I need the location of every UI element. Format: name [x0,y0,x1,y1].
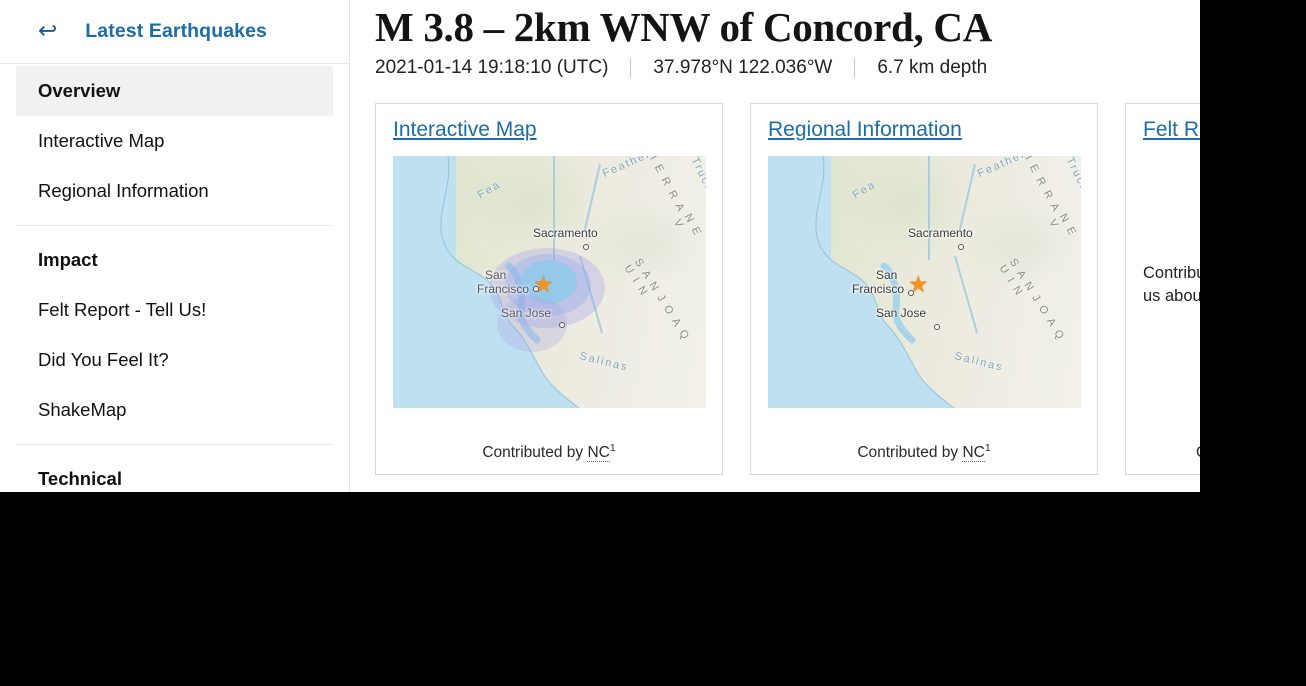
map-city-label: Sacramento [908,226,973,240]
map-city-label: San Jose [876,306,926,320]
event-coordinates: 37.978°N 122.036°W [653,57,832,79]
river-line [553,156,555,260]
map-city-label: Francisco [852,282,904,296]
sidebar: ↩ Latest Earthquakes Overview Interactiv… [0,0,350,492]
event-metadata: 2021-01-14 19:18:10 (UTC) 37.978°N 122.0… [375,57,1200,79]
city-dot [958,244,964,250]
sidebar-item-label: Did You Feel It? [38,349,169,371]
card-title-link[interactable]: Regional Information [768,118,1080,142]
sidebar-item-overview[interactable]: Overview [16,66,333,116]
main-content: M 3.8 – 2km WNW of Concord, CA 2021-01-1… [350,0,1200,492]
city-dot [934,324,940,330]
sidebar-item-technical[interactable]: Technical [0,454,349,492]
metadata-divider [854,58,855,78]
event-time: 2021-01-14 19:18:10 (UTC) [375,57,608,79]
attribution-prefix: Contributed by [482,444,587,461]
attribution-footnote: 1 [610,442,616,454]
sidebar-item-label: ShakeMap [38,399,126,421]
back-link-label[interactable]: Latest Earthquakes [85,20,267,43]
interactive-map-figure[interactable]: ★ Sacramento San Francisco San Jose S I … [393,156,705,430]
card-interactive-map[interactable]: Interactive Map [375,103,723,475]
event-depth: 6.7 km depth [877,57,987,79]
sidebar-item-shakemap[interactable]: ShakeMap [0,385,349,435]
card-felt-report[interactable]: Felt Report - Tell Us! Contribute to cit… [1125,103,1200,475]
sidebar-item-label: Regional Information [38,180,209,202]
sidebar-divider [16,225,333,226]
page-title: M 3.8 – 2km WNW of Concord, CA [375,3,1200,51]
felt-report-attribution: Citizen Scientist Contributions [1143,444,1200,462]
map-city-label: San [485,268,506,282]
attribution-footnote: 1 [985,442,991,454]
sidebar-item-did-you-feel-it[interactable]: Did You Feel It? [0,335,349,385]
card-attribution: Contributed by NC1 [393,442,705,462]
attribution-prefix: Contributed by [857,444,962,461]
card-regional-information[interactable]: Regional Information ★ Sacra [750,103,1098,475]
attribution-network: NC [962,444,984,462]
city-dot [908,290,914,296]
browser-viewport: ↩ Latest Earthquakes Overview Interactiv… [0,0,1200,492]
sidebar-item-felt-report[interactable]: Felt Report - Tell Us! [0,285,349,335]
card-attribution: Contributed by NC1 [768,442,1080,462]
back-to-latest-earthquakes[interactable]: ↩ Latest Earthquakes [0,0,349,64]
sidebar-item-impact[interactable]: Impact [0,235,349,285]
city-dot [559,322,565,328]
card-title-link[interactable]: Interactive Map [393,118,705,142]
attribution-network: NC [587,444,609,462]
back-arrow-icon[interactable]: ↩ [38,20,57,43]
overview-card-grid: Interactive Map [375,103,1200,475]
metadata-divider [630,58,631,78]
regional-map-figure[interactable]: ★ Sacramento San Francisco San Jose S I … [768,156,1080,430]
map-thumbnail[interactable]: ★ Sacramento San Francisco San Jose S I … [393,156,706,408]
sidebar-item-label: Interactive Map [38,130,164,152]
map-city-label: Francisco [477,282,529,296]
map-city-label: Sacramento [533,226,598,240]
sidebar-item-regional-information[interactable]: Regional Information [0,166,349,216]
sidebar-divider [16,444,333,445]
shaking-intensity-overlay [497,296,567,352]
sidebar-item-label: Technical [38,468,122,490]
sidebar-item-interactive-map[interactable]: Interactive Map [0,116,349,166]
card-title-link[interactable]: Felt Report - Tell Us! [1143,118,1200,142]
river-line [928,156,930,260]
sidebar-item-label: Felt Report - Tell Us! [38,299,206,321]
city-dot [583,244,589,250]
felt-report-description: Contribute to citizen science. Please te… [1143,262,1200,308]
sidebar-item-label: Overview [38,80,120,102]
sidebar-item-label: Impact [38,249,98,271]
map-city-label: San Jose [501,306,551,320]
city-dot [533,286,539,292]
sidebar-nav: Overview Interactive Map Regional Inform… [0,64,349,492]
map-city-label: San [876,268,897,282]
map-thumbnail[interactable]: ★ Sacramento San Francisco San Jose S I … [768,156,1081,408]
